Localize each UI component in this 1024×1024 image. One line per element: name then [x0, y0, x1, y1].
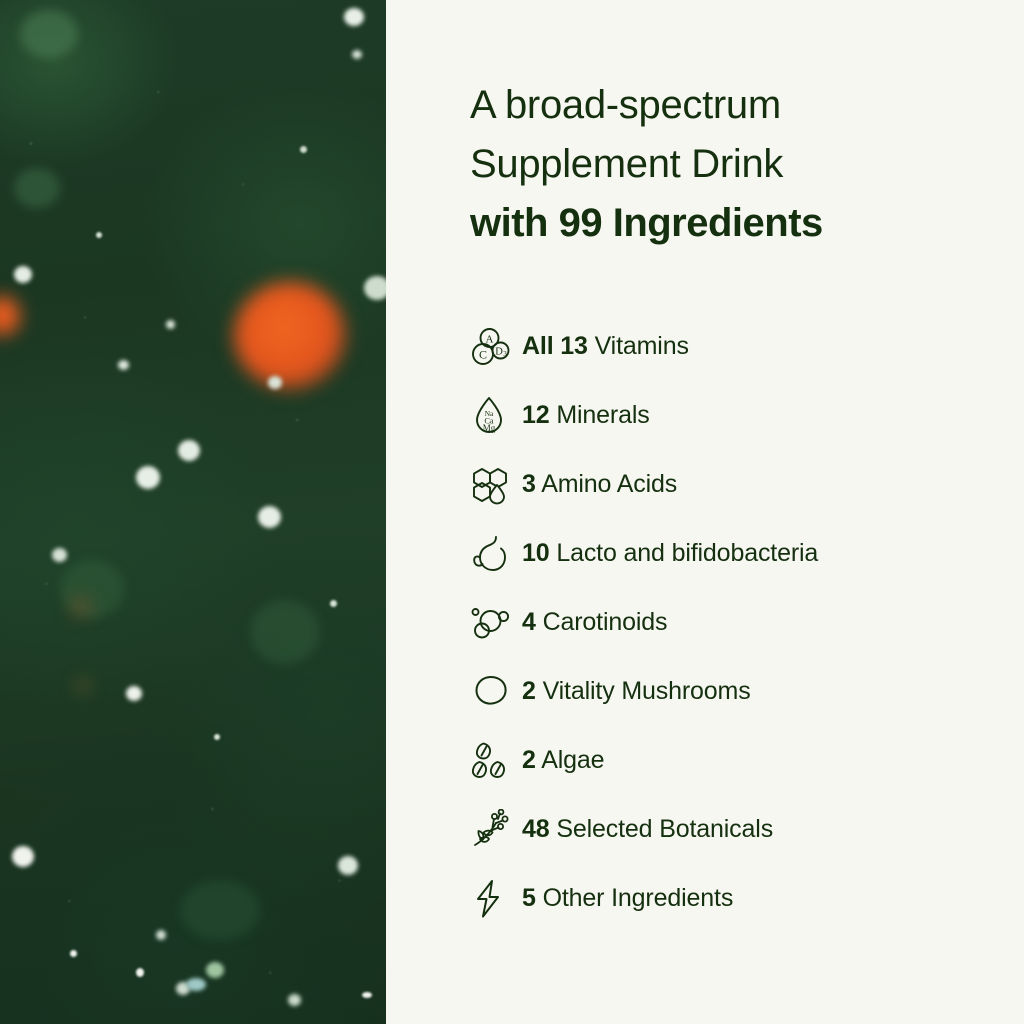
svg-text:C: C — [479, 347, 487, 361]
photo-speck — [178, 440, 200, 461]
svg-text:3: 3 — [503, 350, 507, 358]
list-item: 10 Lacto and bifidobacteria — [470, 519, 1024, 588]
ingredient-count: 10 — [522, 539, 550, 567]
ingredient-count: 2 — [522, 746, 536, 774]
list-item: 3 Amino Acids — [470, 450, 1024, 519]
photo-speck — [300, 146, 307, 153]
photo-speck — [12, 846, 34, 867]
ingredient-text: 5 Other Ingredients — [522, 886, 733, 911]
photo-speck — [206, 962, 224, 978]
headline-line-2: Supplement Drink — [470, 135, 1024, 194]
photo-speck — [288, 994, 301, 1006]
photo-speck — [96, 232, 102, 238]
photo-speck — [70, 950, 77, 957]
ingredient-text: 2 Algae — [522, 748, 604, 773]
list-item: 2 Vitality Mushrooms — [470, 657, 1024, 726]
photo-speck — [352, 50, 362, 59]
list-item: A C D 3 All 13 Vitamins — [470, 312, 1024, 381]
carotinoids-icon — [470, 601, 522, 645]
ingredient-label: Minerals — [556, 401, 649, 429]
photo-speck — [214, 734, 220, 740]
mushroom-icon — [470, 670, 522, 714]
ingredient-text: 4 Carotinoids — [522, 610, 667, 635]
content-panel: A broad-spectrum Supplement Drink with 9… — [386, 0, 1024, 1024]
list-item: 2 Algae — [470, 726, 1024, 795]
photo-speck — [338, 856, 358, 875]
list-item: 4 Carotinoids — [470, 588, 1024, 657]
algae-icon — [470, 739, 522, 783]
ingredient-label: Other Ingredients — [543, 884, 734, 912]
ingredient-count: 4 — [522, 608, 536, 636]
svg-text:Mg: Mg — [483, 423, 496, 433]
ingredient-label: Selected Botanicals — [556, 815, 773, 843]
photo-speck — [118, 360, 129, 370]
photo-speck — [344, 8, 364, 26]
ingredient-list: A C D 3 All 13 Vitamins Na Ca Mg — [470, 312, 1024, 933]
photo-speck — [136, 968, 144, 977]
amino-acids-icon — [470, 463, 522, 507]
photo-speck — [258, 506, 281, 528]
vitamins-icon: A C D 3 — [470, 325, 522, 369]
photo-speck — [126, 686, 142, 701]
ingredient-label: Amino Acids — [541, 470, 677, 498]
ingredient-count: 2 — [522, 677, 536, 705]
ingredient-text: 3 Amino Acids — [522, 472, 677, 497]
ingredient-count: 12 — [522, 401, 550, 429]
photo-speck — [136, 466, 160, 489]
photo-speck — [186, 978, 206, 991]
photo-speck — [52, 548, 67, 562]
list-item: 48 Selected Botanicals — [470, 795, 1024, 864]
list-item: 5 Other Ingredients — [470, 864, 1024, 933]
stomach-icon — [470, 532, 522, 576]
photo-speck — [362, 992, 372, 998]
headline-line-1: A broad-spectrum — [470, 76, 1024, 135]
svg-text:A: A — [486, 333, 494, 345]
photo-speck — [268, 376, 282, 389]
photo-speck — [156, 930, 166, 940]
minerals-icon: Na Ca Mg — [470, 394, 522, 438]
ingredient-label: Algae — [541, 746, 604, 774]
ingredient-text: 10 Lacto and bifidobacteria — [522, 541, 818, 566]
ingredient-text: All 13 Vitamins — [522, 334, 689, 359]
headline-line-3: with 99 Ingredients — [470, 194, 1024, 253]
ingredient-label: Vitamins — [595, 332, 689, 360]
ingredient-label: Vitality Mushrooms — [543, 677, 751, 705]
ingredient-text: 48 Selected Botanicals — [522, 817, 773, 842]
ingredient-text: 12 Minerals — [522, 403, 650, 428]
ingredient-count: 48 — [522, 815, 550, 843]
supplement-promo-card: A broad-spectrum Supplement Drink with 9… — [0, 0, 1024, 1024]
ingredient-count: All 13 — [522, 332, 588, 360]
ingredient-label: Lacto and bifidobacteria — [556, 539, 818, 567]
photo-speck — [364, 276, 386, 300]
photo-grain-texture — [0, 0, 386, 1024]
photo-speck — [14, 266, 32, 283]
ingredient-label: Carotinoids — [543, 608, 668, 636]
list-item: Na Ca Mg 12 Minerals — [470, 381, 1024, 450]
ingredient-count: 5 — [522, 884, 536, 912]
photo-speck — [330, 600, 337, 607]
photo-speck — [166, 320, 175, 329]
ingredient-count: 3 — [522, 470, 536, 498]
ingredient-text: 2 Vitality Mushrooms — [522, 679, 751, 704]
product-photo-panel — [0, 0, 386, 1024]
svg-text:D: D — [495, 346, 503, 357]
botanicals-icon — [470, 808, 522, 852]
bolt-icon — [470, 877, 522, 921]
page-title: A broad-spectrum Supplement Drink with 9… — [470, 76, 1024, 252]
